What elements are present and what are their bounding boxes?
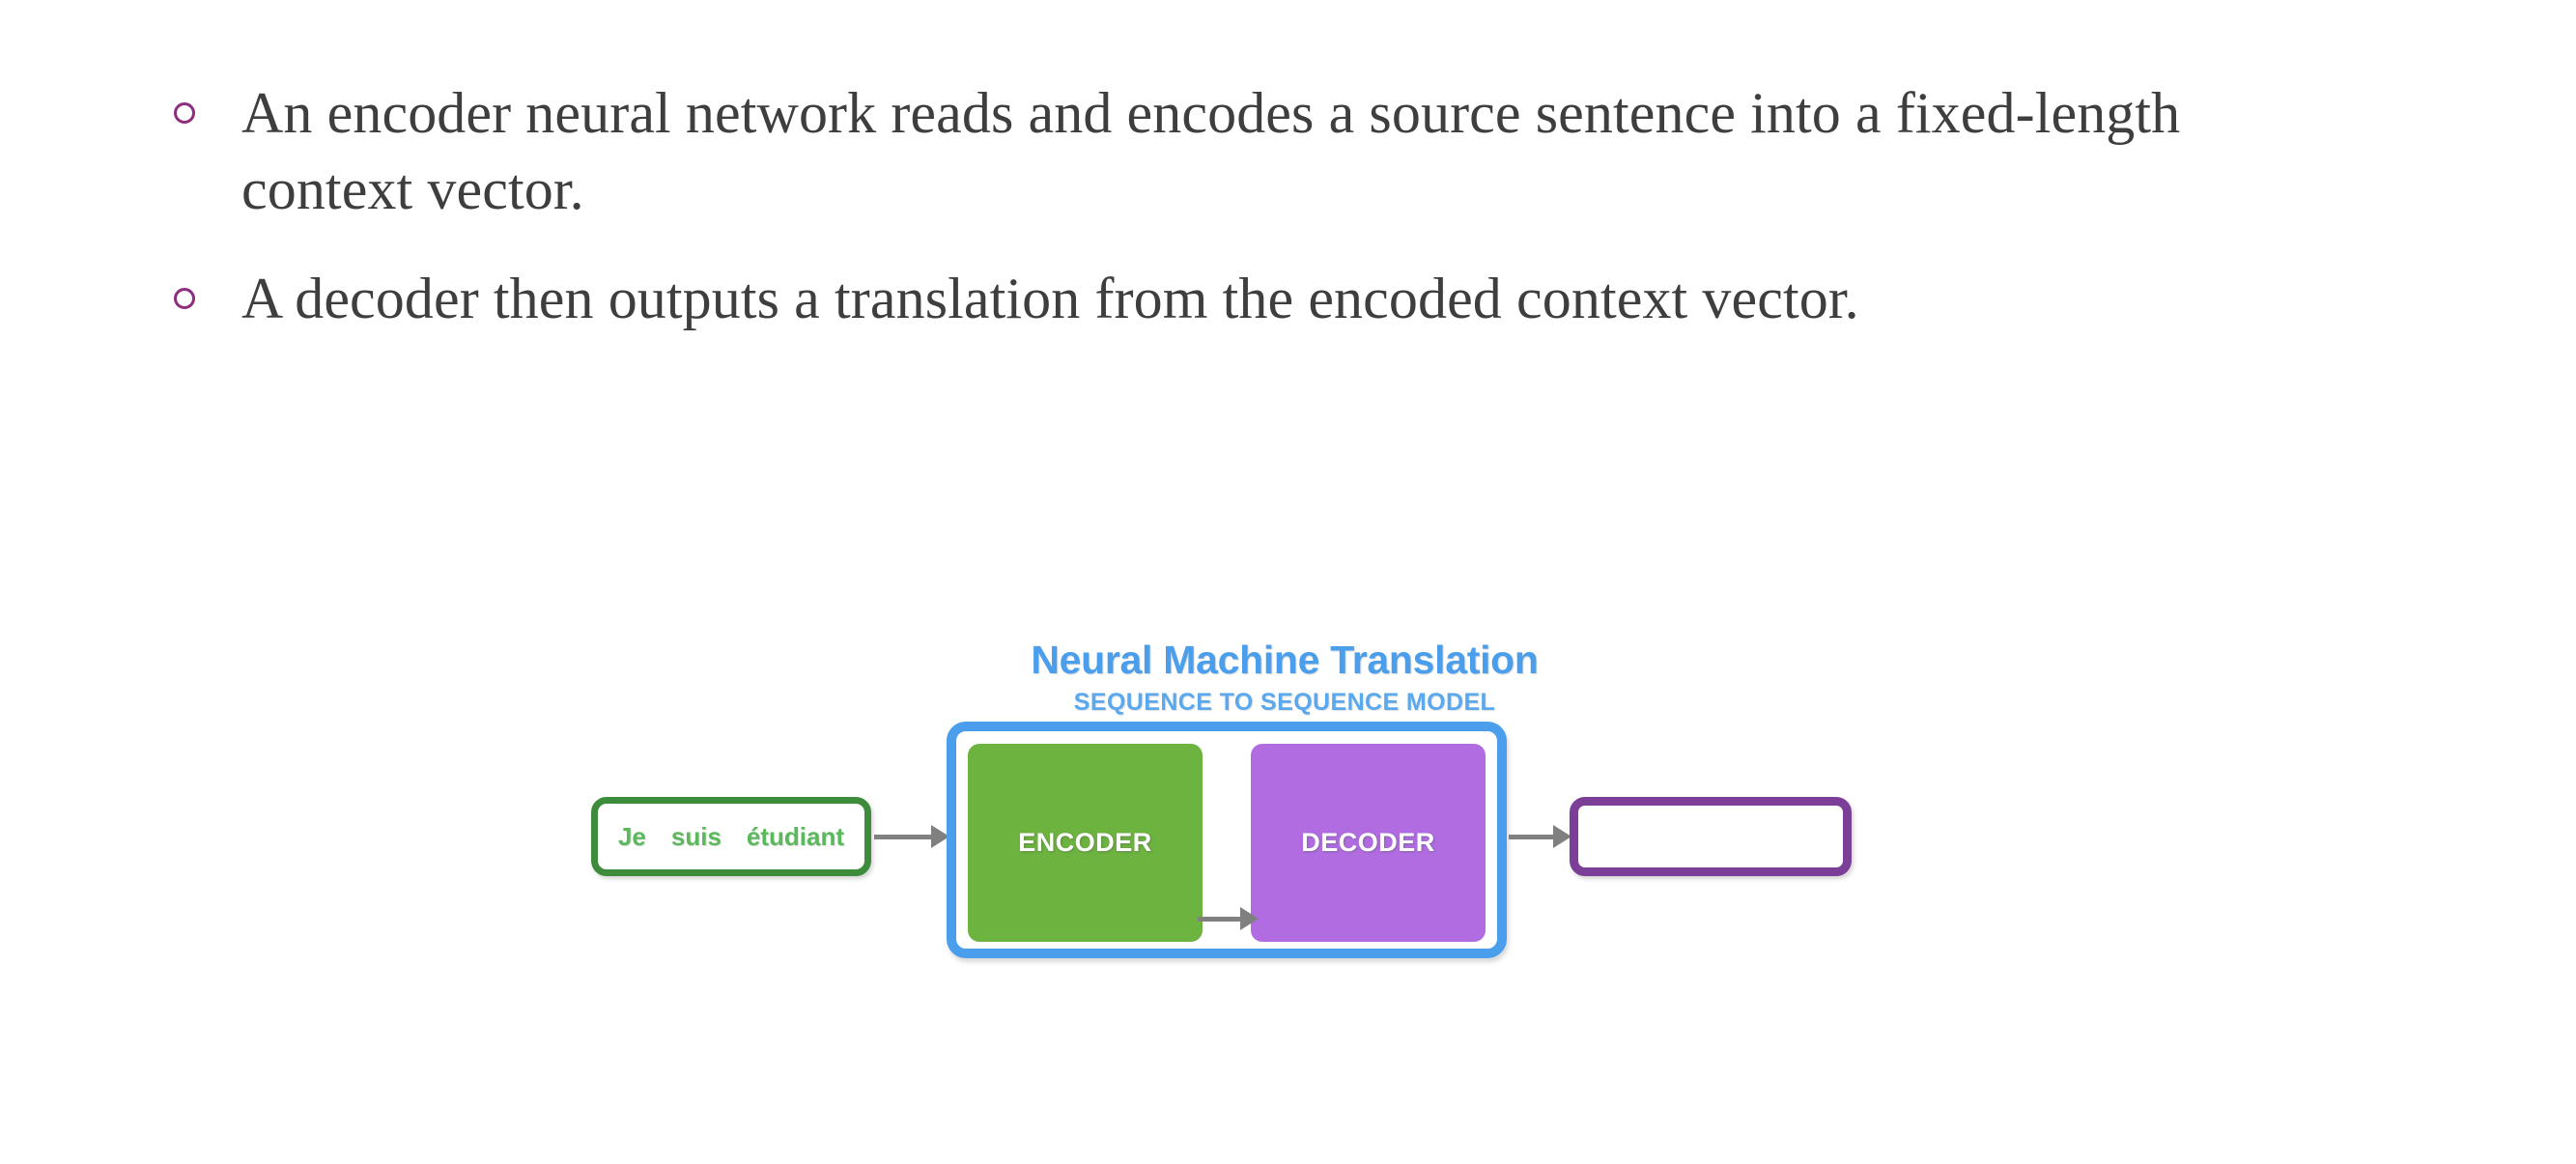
encoder-block: ENCODER	[968, 744, 1203, 942]
diagram-title: Neural Machine Translation	[995, 638, 1574, 683]
source-word-1: Je	[618, 822, 646, 852]
hollow-circle-bullet-icon	[174, 288, 195, 309]
source-sentence-words: Je suis étudiant	[618, 822, 844, 852]
arrow-source-to-encoder-icon	[874, 824, 949, 849]
arrow-shaft	[1198, 917, 1240, 922]
arrow-shaft	[874, 835, 931, 839]
nmt-diagram: Neural Machine Translation SEQUENCE TO S…	[580, 609, 1932, 995]
source-sentence-box: Je suis étudiant	[591, 797, 871, 876]
bullet-text-1: An encoder neural network reads and enco…	[241, 75, 2279, 228]
diagram-subtitle: SEQUENCE TO SEQUENCE MODEL	[995, 689, 1574, 717]
arrow-encoder-to-decoder-icon	[1198, 906, 1259, 931]
decoder-block: DECODER	[1251, 744, 1486, 942]
list-item: A decoder then outputs a translation fro…	[174, 261, 2347, 337]
hollow-circle-bullet-icon	[174, 102, 195, 124]
list-item: An encoder neural network reads and enco…	[174, 75, 2347, 228]
arrow-decoder-to-output-icon	[1509, 824, 1571, 849]
bullet-text-2: A decoder then outputs a translation fro…	[241, 261, 1859, 337]
source-word-2: suis	[671, 822, 722, 852]
arrow-shaft	[1509, 835, 1553, 839]
arrow-head	[1240, 907, 1259, 930]
output-sentence-box	[1570, 797, 1852, 876]
source-word-3: étudiant	[747, 822, 844, 852]
bullet-list: An encoder neural network reads and enco…	[174, 75, 2347, 371]
